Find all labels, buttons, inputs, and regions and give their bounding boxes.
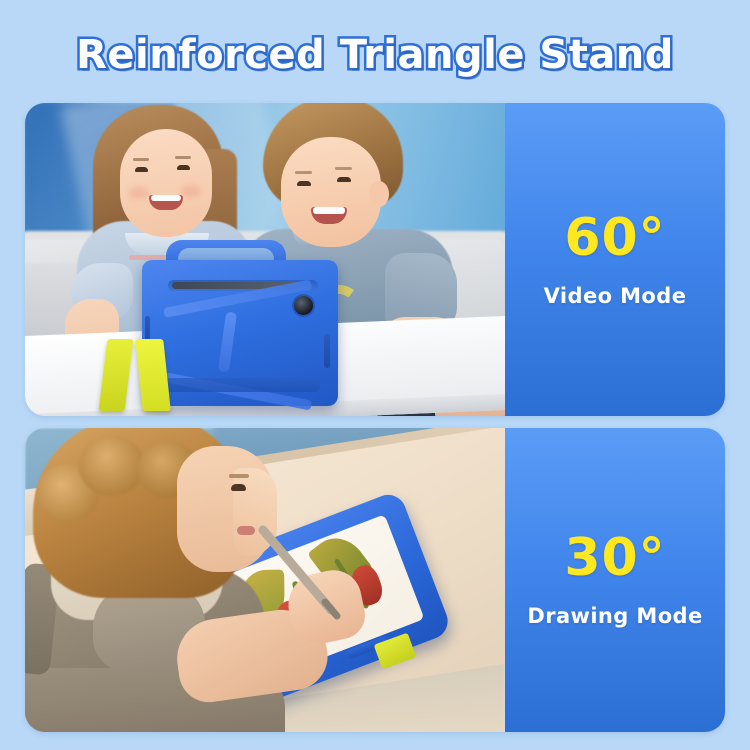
feature-card-video-mode: 60° Video Mode (25, 103, 725, 416)
side-button-cutout (324, 334, 330, 368)
boy-eye (337, 177, 351, 182)
angle-panel-drawing-mode: 30° Drawing Mode (505, 428, 725, 732)
boy-ear (369, 181, 389, 207)
girl-eyebrow (133, 158, 149, 161)
kickstand-leg (135, 339, 171, 411)
girl-eyebrow (229, 474, 249, 478)
mode-label: Video Mode (544, 284, 687, 308)
stylus-pen (257, 524, 367, 644)
product-photo-video-mode (25, 103, 505, 416)
angle-value: 60° (564, 212, 665, 264)
girl-eyebrow (175, 156, 191, 159)
girl-cheek (129, 187, 149, 199)
feature-card-drawing-mode: 30° Drawing Mode (25, 428, 725, 732)
case-bottom-rail (164, 378, 320, 392)
girl-teeth (151, 195, 181, 201)
girl-eye (135, 167, 148, 172)
boy-face (281, 137, 381, 247)
yellow-kickstand-video-mode (103, 339, 179, 411)
page-header: Reinforced Triangle Stand (0, 24, 750, 86)
girl-eye (231, 484, 246, 491)
boy-eyebrow (335, 167, 352, 170)
kickstand-leg (99, 339, 134, 411)
girl-cheek (181, 185, 201, 197)
angle-panel-video-mode: 60° Video Mode (505, 103, 725, 416)
girl-eye (177, 165, 190, 170)
boy-eyebrow (295, 171, 312, 174)
mode-label: Drawing Mode (527, 604, 702, 628)
boy-teeth (313, 207, 345, 214)
girl-face (120, 129, 212, 237)
girl-hair-curl (79, 436, 145, 496)
boy-eye (297, 181, 311, 186)
angle-value: 30° (564, 532, 665, 584)
camera-cutout (294, 296, 313, 315)
girl-lips (237, 526, 255, 535)
product-photo-drawing-mode (25, 428, 505, 732)
page-title: Reinforced Triangle Stand (76, 32, 674, 78)
